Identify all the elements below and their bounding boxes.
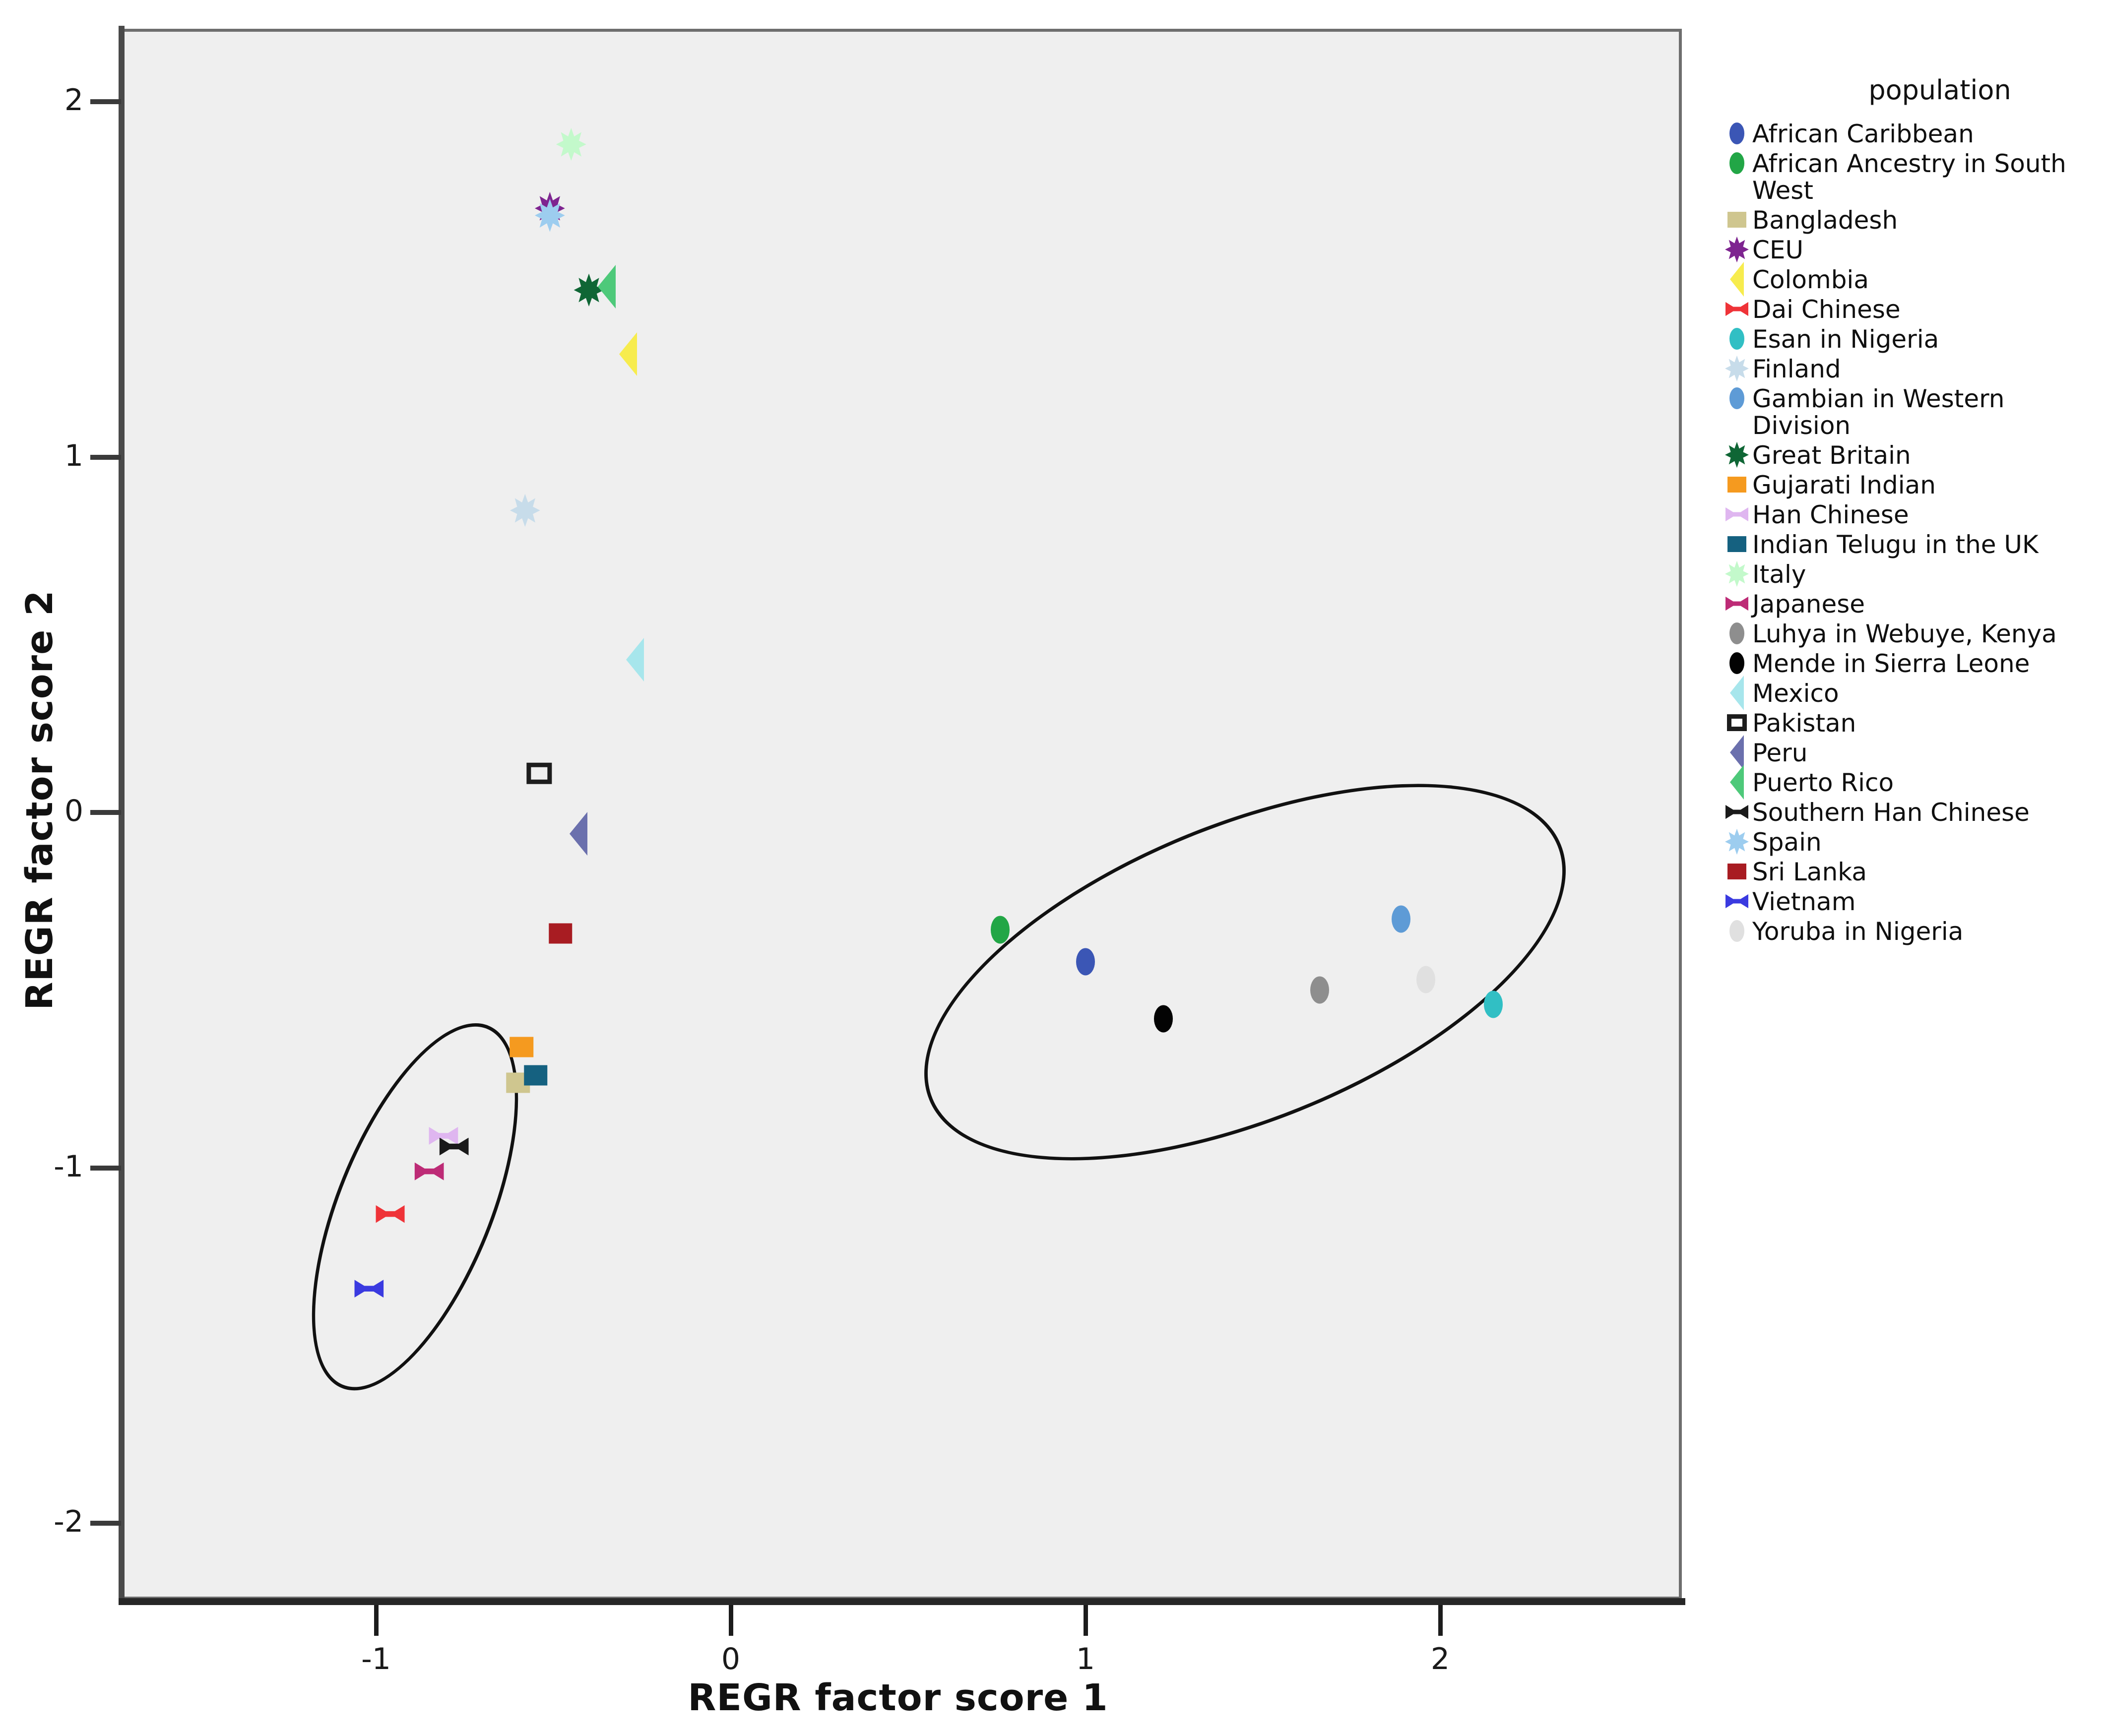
legend-item[interactable]: Vietnam	[1722, 887, 2099, 915]
legend-item[interactable]: Puerto Rico	[1722, 768, 2099, 796]
legend-marker-circle-icon	[1722, 325, 1752, 353]
legend-marker-square-icon	[1722, 530, 1752, 558]
legend-item-label: Gambian in Western Division	[1752, 384, 2080, 439]
x-tick	[1438, 1605, 1443, 1636]
legend-marker-bowtie-icon	[1722, 798, 1752, 826]
x-tick-label: 2	[1391, 1642, 1490, 1676]
x-tick-label: -1	[326, 1642, 426, 1676]
x-tick	[729, 1605, 733, 1636]
legend-key-glyph	[1730, 676, 1744, 710]
y-tick	[90, 1521, 121, 1526]
legend-key-glyph	[1725, 442, 1749, 468]
y-axis-line	[119, 26, 125, 1604]
y-tick-label: 2	[14, 83, 83, 118]
legend-marker-circle-icon	[1722, 620, 1752, 647]
legend-marker-triangle-icon	[1722, 768, 1752, 796]
legend-item-label: Han Chinese	[1752, 500, 1909, 528]
legend-key-glyph	[1729, 622, 1744, 644]
data-point	[1076, 948, 1095, 975]
legend-item[interactable]: Dai Chinese	[1722, 295, 2099, 323]
legend-key-glyph	[1727, 714, 1747, 731]
y-tick	[90, 455, 121, 460]
legend-marker-circle-icon	[1722, 384, 1752, 412]
x-tick	[1084, 1605, 1088, 1636]
legend-marker-square-icon	[1722, 206, 1752, 234]
legend-marker-star-icon	[1722, 355, 1752, 382]
legend-item[interactable]: African Caribbean	[1722, 120, 2099, 147]
legend-key-glyph	[1725, 237, 1749, 263]
legend-item-label: Southern Han Chinese	[1752, 798, 2030, 826]
legend-item[interactable]: Finland	[1722, 355, 2099, 382]
data-point	[598, 265, 616, 309]
y-axis-title: REGR factor score 2	[18, 254, 61, 1346]
legend-item[interactable]: Sri Lanka	[1722, 858, 2099, 885]
legend-item-label: CEU	[1752, 236, 1803, 263]
legend-key-glyph	[1725, 302, 1749, 316]
legend-item[interactable]: Bangladesh	[1722, 206, 2099, 234]
legend-item[interactable]: Japanese	[1722, 590, 2099, 618]
data-point	[1154, 1005, 1173, 1032]
legend-item[interactable]: Esan in Nigeria	[1722, 325, 2099, 353]
legend-item-label: Dai Chinese	[1752, 295, 1901, 323]
legend-marker-bowtie-icon	[1722, 295, 1752, 323]
legend-item-label: Puerto Rico	[1752, 768, 1894, 796]
legend: population African CaribbeanAfrican Ance…	[1722, 74, 2099, 947]
legend-key-glyph	[1729, 123, 1744, 144]
legend-item[interactable]: Peru	[1722, 739, 2099, 766]
legend-item[interactable]: Mende in Sierra Leone	[1722, 649, 2099, 677]
legend-item-label: Great Britain	[1752, 441, 1911, 469]
legend-key-glyph	[1729, 328, 1744, 350]
legend-item-label: Yoruba in Nigeria	[1752, 917, 1963, 945]
legend-marker-square-open-icon	[1722, 709, 1752, 737]
legend-item[interactable]: Colombia	[1722, 265, 2099, 293]
legend-item[interactable]: Indian Telugu in the UK	[1722, 530, 2099, 558]
x-tick	[374, 1605, 379, 1636]
legend-key-glyph	[1730, 765, 1744, 800]
legend-item[interactable]: Gambian in Western Division	[1722, 384, 2099, 439]
legend-item-label: Finland	[1752, 355, 1841, 382]
legend-item[interactable]: CEU	[1722, 236, 2099, 263]
legend-marker-star-icon	[1722, 441, 1752, 469]
legend-item-label: Colombia	[1752, 265, 1869, 293]
legend-marker-square-icon	[1722, 858, 1752, 885]
legend-item-label: Pakistan	[1752, 709, 1856, 737]
legend-marker-circle-icon	[1722, 120, 1752, 147]
data-point	[1392, 905, 1410, 932]
legend-marker-circle-icon	[1722, 917, 1752, 945]
legend-key-glyph	[1725, 561, 1749, 587]
data-point	[510, 1037, 533, 1057]
legend-item[interactable]: Yoruba in Nigeria	[1722, 917, 2099, 945]
legend-marker-triangle-icon	[1722, 679, 1752, 707]
legend-item-label: Gujarati Indian	[1752, 471, 1936, 498]
data-point	[626, 638, 644, 682]
legend-key-glyph	[1729, 152, 1744, 174]
data-point	[526, 763, 552, 784]
legend-item-label: Esan in Nigeria	[1752, 325, 1939, 353]
legend-item-label: Peru	[1752, 739, 1807, 766]
legend-marker-star-icon	[1722, 828, 1752, 856]
legend-item-label: Italy	[1752, 560, 1806, 588]
legend-key-glyph	[1725, 894, 1749, 909]
legend-key-glyph	[1727, 477, 1746, 493]
legend-key-glyph	[1727, 536, 1746, 552]
legend-item-label: Indian Telugu in the UK	[1752, 530, 2039, 558]
legend-marker-star-icon	[1722, 236, 1752, 263]
legend-marker-circle-icon	[1722, 149, 1752, 177]
legend-item-label: Mexico	[1752, 679, 1839, 707]
legend-marker-triangle-icon	[1722, 739, 1752, 766]
x-tick-label: 0	[681, 1642, 780, 1676]
y-tick	[90, 99, 121, 104]
legend-key-glyph	[1729, 652, 1744, 674]
legend-key-glyph	[1729, 387, 1744, 409]
legend-marker-bowtie-icon	[1722, 887, 1752, 915]
x-tick-label: 1	[1036, 1642, 1135, 1676]
legend-marker-bowtie-icon	[1722, 500, 1752, 528]
legend-item-label: Mende in Sierra Leone	[1752, 649, 2030, 677]
data-point	[991, 916, 1010, 943]
data-point	[570, 812, 587, 856]
legend-key-glyph	[1725, 356, 1749, 382]
legend-key-glyph	[1725, 597, 1749, 611]
legend-item[interactable]: African Ancestry in South West	[1722, 149, 2099, 204]
legend-item[interactable]: Southern Han Chinese	[1722, 798, 2099, 826]
legend-item-label: Japanese	[1752, 590, 1865, 618]
legend-item-label: African Ancestry in South West	[1752, 149, 2080, 204]
legend-key-glyph	[1727, 864, 1746, 879]
legend-item[interactable]: Great Britain	[1722, 441, 2099, 469]
legend-key-glyph	[1725, 507, 1749, 522]
legend-item[interactable]: Gujarati Indian	[1722, 471, 2099, 498]
legend-item-label: African Caribbean	[1752, 120, 1974, 147]
x-axis-title: REGR factor score 1	[0, 1676, 1796, 1719]
legend-marker-circle-icon	[1722, 649, 1752, 677]
legend-item-label: Vietnam	[1752, 887, 1855, 915]
legend-key-glyph	[1725, 805, 1749, 819]
legend-marker-star-icon	[1722, 560, 1752, 588]
legend-item[interactable]: Italy	[1722, 560, 2099, 588]
legend-item[interactable]: Pakistan	[1722, 709, 2099, 737]
legend-title: population	[1781, 74, 2099, 106]
legend-item-label: Bangladesh	[1752, 206, 1898, 234]
data-point	[524, 1065, 548, 1086]
legend-item[interactable]: Spain	[1722, 828, 2099, 856]
legend-item[interactable]: Mexico	[1722, 679, 2099, 707]
data-point	[619, 332, 637, 376]
legend-item-label: Spain	[1752, 828, 1822, 856]
y-tick-label: -2	[14, 1504, 83, 1539]
legend-item[interactable]: Luhya in Webuye, Kenya	[1722, 620, 2099, 647]
data-point	[1416, 966, 1435, 993]
legend-key-glyph	[1727, 212, 1746, 228]
legend-marker-square-icon	[1722, 471, 1752, 498]
legend-items: African CaribbeanAfrican Ancestry in Sou…	[1722, 120, 2099, 945]
data-point	[1484, 991, 1503, 1018]
y-tick	[90, 810, 121, 815]
legend-marker-bowtie-icon	[1722, 590, 1752, 618]
legend-key-glyph	[1730, 262, 1744, 297]
legend-marker-triangle-icon	[1722, 265, 1752, 293]
legend-key-glyph	[1725, 829, 1749, 855]
legend-item-label: Luhya in Webuye, Kenya	[1752, 620, 2057, 647]
x-axis-line	[119, 1598, 1685, 1605]
legend-item[interactable]: Han Chinese	[1722, 500, 2099, 528]
y-tick	[90, 1166, 121, 1171]
legend-key-glyph	[1729, 920, 1744, 942]
legend-item-label: Sri Lanka	[1752, 858, 1867, 885]
data-point	[549, 923, 573, 943]
data-point	[1310, 977, 1329, 1004]
